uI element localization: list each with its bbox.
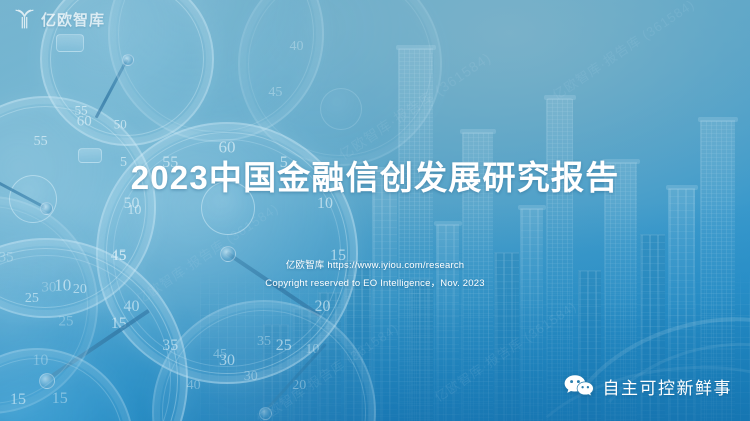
subtitle-block: 亿欧智库 https://www.iyiou.com/research Copy… <box>0 257 750 293</box>
yiou-y-mark-icon <box>14 8 35 30</box>
brand-name: 亿欧智库 <box>41 9 105 30</box>
stopwatch-hand <box>45 309 150 382</box>
page-title: 2023中国金融信创发展研究报告 <box>0 158 750 198</box>
wechat-badge[interactable]: 自主可控新鲜事 <box>564 374 733 399</box>
stopwatch-dial-upper-center: 45 40 <box>108 0 324 142</box>
stopwatch-dial-bottom-left: 15 <box>0 348 134 421</box>
stopwatch-hand <box>95 58 129 118</box>
stopwatch-crown <box>56 34 84 52</box>
watermark-text: 亿欧智库·报告库 (361584) <box>335 48 495 165</box>
watermark-text: 亿欧智库·报告库 (361584) <box>548 0 698 104</box>
title-block: 2023中国金融信创发展研究报告 <box>0 158 750 198</box>
copyright-line: Copyright reserved to EO Intelligence，No… <box>0 275 750 293</box>
wechat-account-name: 自主可控新鲜事 <box>603 374 733 399</box>
wechat-icon <box>564 374 594 399</box>
stopwatch-dial-right <box>238 0 442 166</box>
report-cover-slide: 60 5 10 15 20 25 30 35 40 45 50 55 60 5 … <box>0 0 750 421</box>
source-url-line: 亿欧智库 https://www.iyiou.com/research <box>0 257 750 275</box>
stopwatch-dial-left-edge: 10 35 30 25 <box>0 196 98 414</box>
brand-logo[interactable]: 亿欧智库 <box>14 6 105 32</box>
